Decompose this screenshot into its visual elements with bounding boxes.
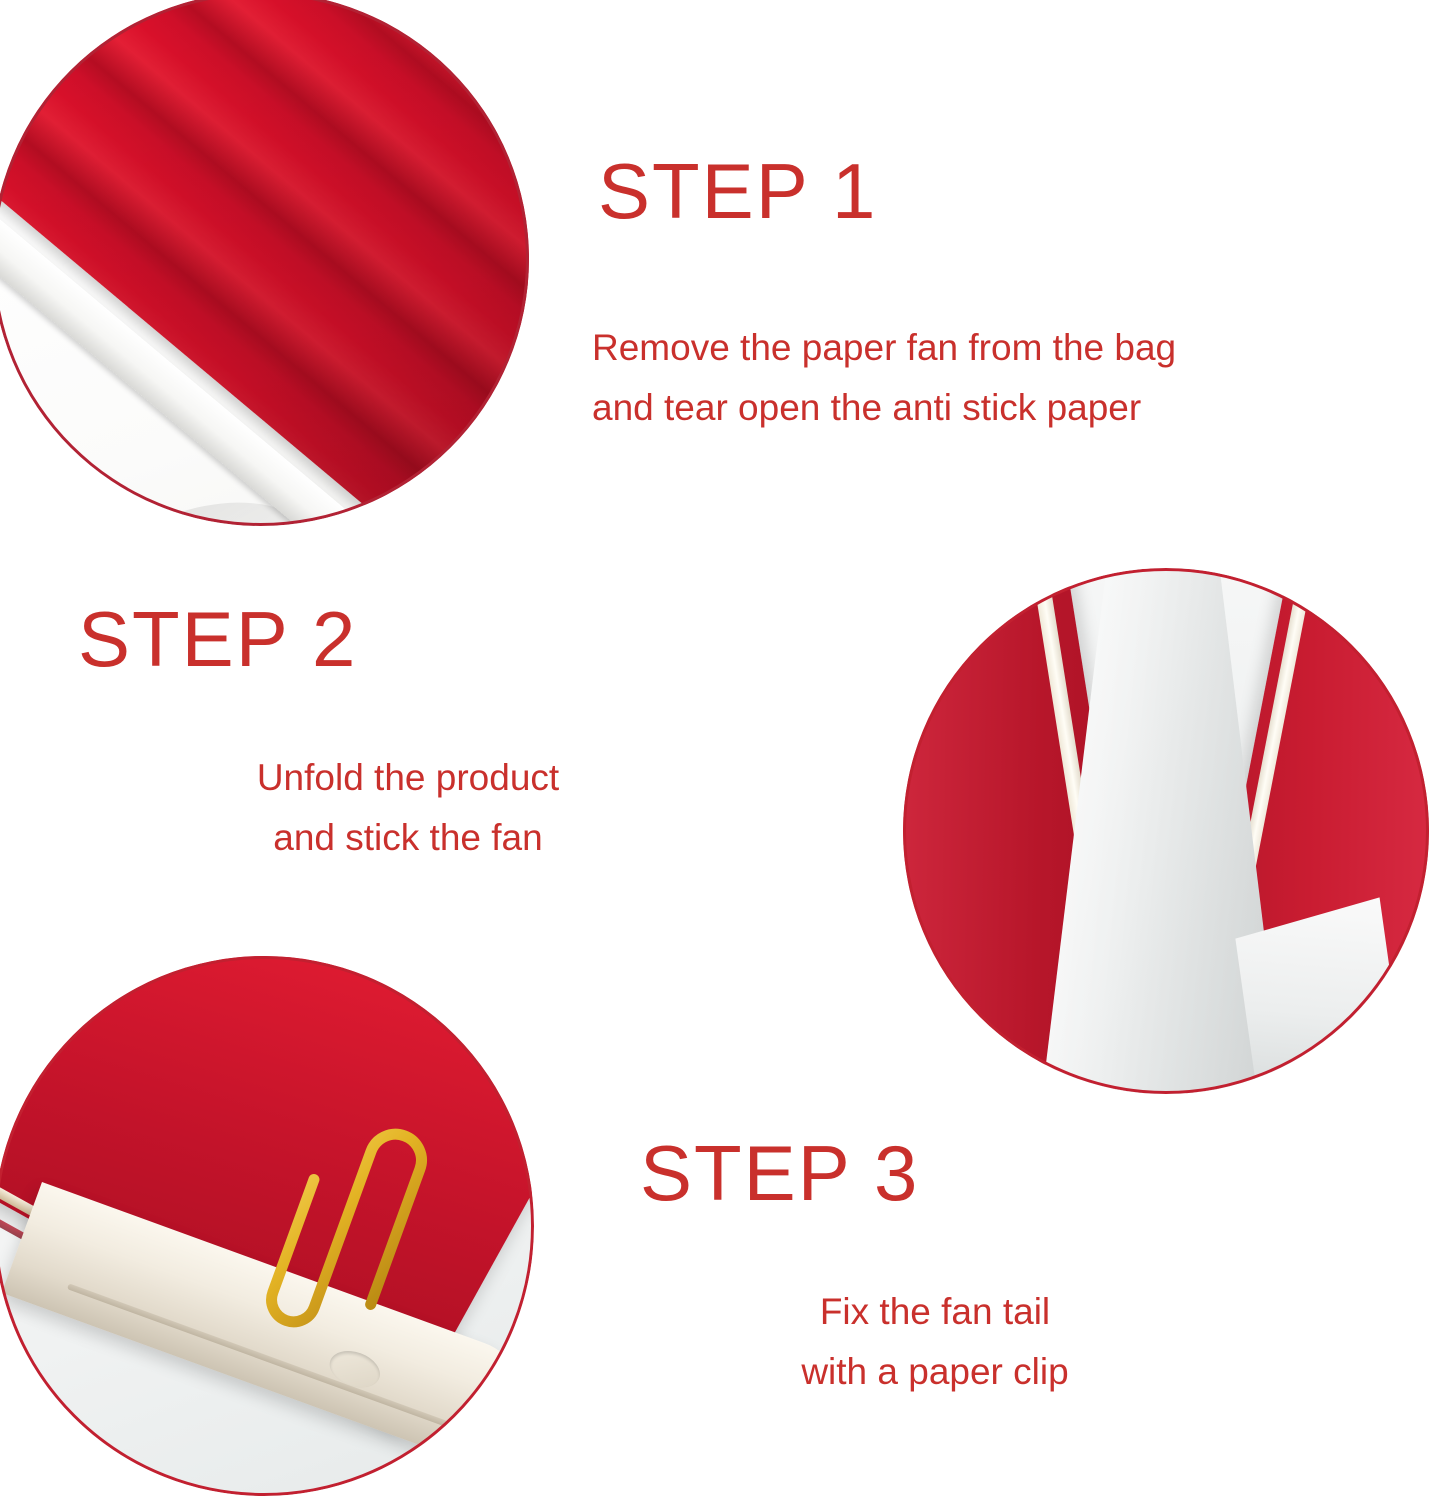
instruction-infographic: STEP 1 Remove the paper fan from the bag… bbox=[0, 0, 1439, 1500]
step-1-body-line-1: Remove the paper fan from the bag bbox=[592, 318, 1176, 378]
step-3-photo-content bbox=[0, 956, 534, 1496]
step-2-heading: STEP 2 bbox=[78, 600, 357, 678]
step-2-body: Unfold the product and stick the fan bbox=[78, 748, 738, 868]
step-3-heading: STEP 3 bbox=[640, 1134, 919, 1212]
step-1-photo-content bbox=[0, 0, 529, 526]
step-1-body-line-2: and tear open the anti stick paper bbox=[592, 378, 1176, 438]
step-3-body-line-2: with a paper clip bbox=[640, 1342, 1230, 1402]
step-2-photo-unfolded-fan bbox=[903, 568, 1429, 1094]
step-3-photo-paper-clip bbox=[0, 956, 534, 1496]
step-1-heading: STEP 1 bbox=[598, 152, 877, 230]
step-2-photo-content bbox=[903, 568, 1429, 1094]
step-1-photo-folded-fan bbox=[0, 0, 529, 526]
step-2-body-line-1: Unfold the product bbox=[78, 748, 738, 808]
step-1-body: Remove the paper fan from the bag and te… bbox=[592, 318, 1176, 438]
step-3-body-line-1: Fix the fan tail bbox=[640, 1282, 1230, 1342]
step-3-body: Fix the fan tail with a paper clip bbox=[640, 1282, 1230, 1402]
step-2-body-line-2: and stick the fan bbox=[78, 808, 738, 868]
